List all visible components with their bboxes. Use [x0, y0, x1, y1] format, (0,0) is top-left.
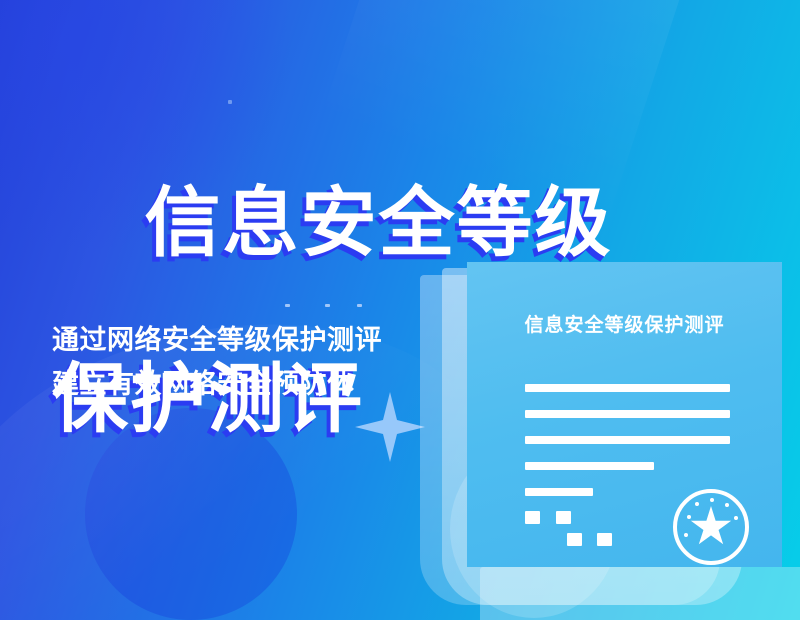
- text-line: [525, 462, 654, 470]
- seal-accent-dot: [695, 502, 699, 506]
- headline-line-1: 信息安全等级: [144, 181, 612, 266]
- seal-accent-dot: [687, 515, 691, 519]
- document-base-band: [480, 567, 800, 620]
- text-block-square: [556, 511, 571, 524]
- certificate-illustration: 信息安全等级保护测评: [410, 255, 800, 620]
- seal-accent-dot: [710, 498, 714, 502]
- certificate-title: 信息安全等级保护测评: [467, 310, 782, 337]
- certificate-card: 信息安全等级保护测评: [467, 262, 782, 567]
- text-line: [525, 384, 730, 392]
- text-block-square: [567, 533, 582, 546]
- seal-accent-dot: [734, 516, 738, 520]
- text-line: [525, 436, 730, 444]
- promo-banner: 信息安全等级 保护测评 通过网络安全等级保护测评 建立有效网络安全预防体 信息安…: [0, 0, 800, 620]
- text-block-square: [525, 511, 540, 524]
- banner-subtitle: 通过网络安全等级保护测评 建立有效网络安全预防体: [52, 318, 382, 406]
- seal-accent-dot: [684, 533, 688, 537]
- seal-accent-dot: [725, 503, 729, 507]
- text-line: [525, 410, 730, 418]
- text-line: [525, 488, 593, 496]
- text-block-square: [597, 533, 612, 546]
- subtitle-line-2: 建立有效网络安全预防体: [52, 362, 382, 406]
- subtitle-line-1: 通过网络安全等级保护测评: [52, 318, 382, 362]
- star-seal-icon: [673, 489, 749, 565]
